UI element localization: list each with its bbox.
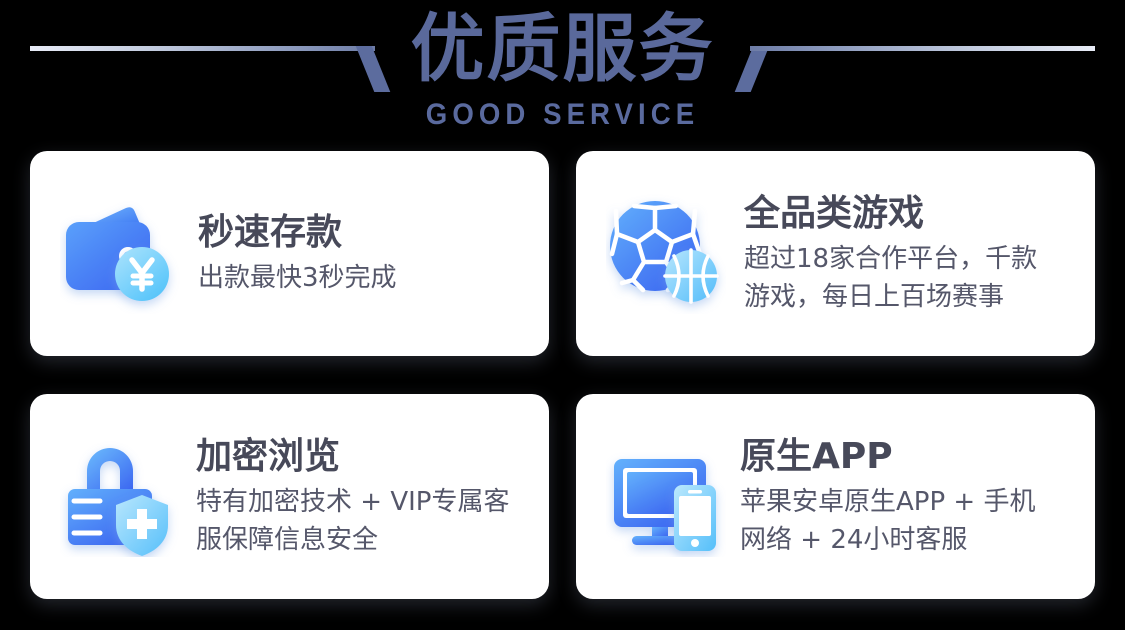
card-description-line: 特有加密技术 + VIP专属客 bbox=[196, 483, 527, 521]
card-description: 苹果安卓原生APP + 手机 网络 + 24小时客服 bbox=[740, 483, 1073, 559]
card-description: 特有加密技术 + VIP专属客 服保障信息安全 bbox=[196, 483, 527, 559]
card-title: 加密浏览 bbox=[196, 435, 527, 479]
wallet-yen-icon bbox=[60, 194, 180, 314]
card-text-block: 秒速存款 出款最快3秒完成 bbox=[198, 211, 527, 297]
monitor-phone-icon bbox=[606, 437, 726, 557]
page-subtitle: GOOD SERVICE bbox=[45, 97, 1080, 133]
service-card-native-app[interactable]: 原生APP 苹果安卓原生APP + 手机 网络 + 24小时客服 bbox=[576, 394, 1095, 599]
lock-shield-icon bbox=[60, 437, 180, 557]
card-description-line: 出款最快3秒完成 bbox=[198, 259, 527, 297]
header-rule-right bbox=[750, 46, 1095, 51]
card-text-block: 原生APP 苹果安卓原生APP + 手机 网络 + 24小时客服 bbox=[740, 435, 1073, 559]
card-title: 原生APP bbox=[740, 435, 1073, 479]
card-description: 出款最快3秒完成 bbox=[198, 259, 527, 297]
card-description-line: 网络 + 24小时客服 bbox=[740, 521, 1073, 559]
card-text-block: 加密浏览 特有加密技术 + VIP专属客 服保障信息安全 bbox=[196, 435, 527, 559]
service-card-all-games[interactable]: 全品类游戏 超过18家合作平台，千款 游戏，每日上百场赛事 bbox=[576, 151, 1095, 356]
soccer-basketball-icon bbox=[606, 194, 726, 314]
card-description-line: 游戏，每日上百场赛事 bbox=[744, 278, 1073, 316]
card-title: 秒速存款 bbox=[198, 211, 527, 255]
card-description: 超过18家合作平台，千款 游戏，每日上百场赛事 bbox=[744, 240, 1073, 316]
card-title: 全品类游戏 bbox=[744, 192, 1073, 236]
card-description-line: 服保障信息安全 bbox=[196, 521, 527, 559]
page-header: 优质服务 GOOD SERVICE bbox=[0, 0, 1125, 146]
service-card-encrypted-browsing[interactable]: 加密浏览 特有加密技术 + VIP专属客 服保障信息安全 bbox=[30, 394, 549, 599]
card-text-block: 全品类游戏 超过18家合作平台，千款 游戏，每日上百场赛事 bbox=[744, 192, 1073, 316]
card-description-line: 苹果安卓原生APP + 手机 bbox=[740, 483, 1073, 521]
service-card-grid: 秒速存款 出款最快3秒完成 bbox=[30, 151, 1095, 599]
service-card-instant-deposit[interactable]: 秒速存款 出款最快3秒完成 bbox=[30, 151, 549, 356]
card-description-line: 超过18家合作平台，千款 bbox=[744, 240, 1073, 278]
